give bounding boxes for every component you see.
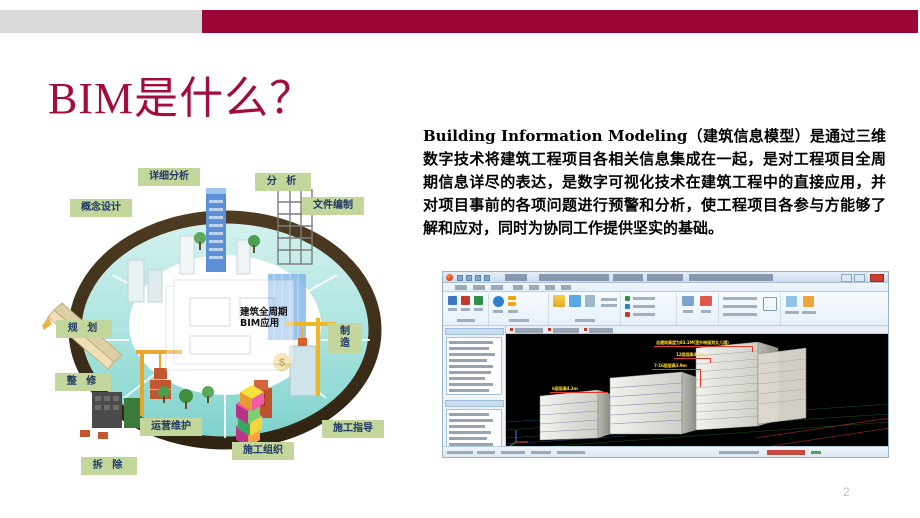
properties-panel-header[interactable]: [445, 400, 504, 407]
ribbon-label-16: [785, 311, 799, 314]
app-menu-bar: [443, 283, 888, 292]
menu-item-3[interactable]: [491, 285, 503, 290]
status-alert: [767, 450, 805, 455]
menu-item-6[interactable]: [545, 285, 555, 290]
menu-item-4[interactable]: [513, 285, 523, 290]
quick-save-icon[interactable]: [457, 275, 463, 281]
ribbon-label-12: [701, 310, 711, 313]
status-text-3: [501, 451, 525, 454]
ribbon-icon-layer[interactable]: [585, 295, 595, 307]
label-renovation[interactable]: 整 修: [55, 373, 111, 391]
ribbon-group-1: [443, 293, 489, 325]
label-construction-organize[interactable]: 施工组织: [232, 442, 294, 460]
quick-print-icon[interactable]: [484, 275, 490, 281]
ribbon-label-11: [683, 310, 693, 313]
label-concept-design[interactable]: 概念设计: [70, 199, 132, 217]
ribbon-label-15: [723, 313, 757, 316]
ribbon-icon-export[interactable]: [786, 296, 797, 307]
colored-cube-stack-icon: [236, 385, 264, 447]
ribbon-label-13: [723, 297, 757, 300]
ribbon-group-title-2: [509, 319, 529, 322]
status-text-6: [719, 451, 759, 454]
menu-item-1[interactable]: [455, 285, 467, 290]
app-document-name: [539, 274, 609, 281]
ribbon-label-4: [493, 310, 503, 313]
ribbon-label-9: [633, 305, 655, 308]
bim-lifecycle-diagram: $: [40, 140, 430, 490]
top-banner: [0, 10, 920, 33]
ribbon-icon-orbit[interactable]: [493, 296, 504, 307]
ribbon-group-title-1: [457, 319, 475, 322]
close-button[interactable]: [870, 274, 884, 282]
center-title: 建筑全周期: [240, 307, 288, 318]
bim-software-screenshot: 总建筑高度为83.1M(室外映面到女儿墙) 12层层高4.4m 7-16层层高3…: [442, 271, 889, 458]
scenery-blue-tower: [206, 188, 226, 272]
app-status-bar: [443, 446, 888, 457]
banner-gray-segment: [0, 10, 202, 33]
tab-indicator-2: [548, 328, 551, 331]
project-browser-header[interactable]: [445, 328, 504, 335]
maximize-button[interactable]: [854, 274, 865, 282]
app-logo-icon: [446, 274, 453, 281]
ribbon-group-4: [621, 293, 677, 325]
ribbon-label-14: [723, 305, 757, 308]
ribbon-label-8: [633, 297, 655, 300]
ribbon-icon-select[interactable]: [448, 296, 457, 305]
label-construction-guide[interactable]: 施工指导: [322, 420, 384, 438]
ribbon-group-2: [489, 293, 549, 325]
app-view-tabs: [506, 326, 888, 334]
minimize-button[interactable]: [841, 274, 852, 282]
app-title-bar: [443, 272, 888, 283]
menu-item-7[interactable]: [561, 285, 571, 290]
view-tab-2[interactable]: [553, 328, 579, 333]
app-title-text: [505, 274, 527, 281]
app-title-extra-2: [647, 274, 683, 281]
ribbon-icon-status-warn[interactable]: [625, 312, 630, 317]
banner-accent-segment: [202, 10, 918, 33]
app-title-extra-1: [613, 274, 643, 281]
label-fabrication[interactable]: 制造: [328, 323, 362, 353]
ribbon-icon-status-ok[interactable]: [625, 296, 630, 301]
ribbon-icon-measure[interactable]: [474, 296, 483, 305]
tab-indicator-1: [510, 328, 513, 331]
status-text-5: [557, 451, 585, 454]
app-ribbon-toolbar: [443, 292, 888, 326]
scenery-demolition: [80, 392, 142, 439]
view-tab-3[interactable]: [589, 328, 613, 333]
ribbon-label-1: [448, 308, 457, 311]
ribbon-label-6: [601, 298, 617, 301]
ribbon-icon-settings[interactable]: [803, 296, 814, 307]
label-detailed-analysis[interactable]: 详细分析: [138, 168, 200, 186]
ribbon-icon-view[interactable]: [682, 296, 694, 306]
ribbon-label-5: [508, 310, 518, 313]
ribbon-icon-pan[interactable]: [508, 296, 516, 300]
ribbon-icon-zoom[interactable]: [508, 302, 516, 306]
ribbon-label-7: [601, 304, 617, 307]
label-planning[interactable]: 规 划: [56, 320, 112, 338]
ribbon-icon-modify[interactable]: [461, 296, 470, 305]
axis-gizmo: [510, 430, 528, 446]
status-text-4: [531, 451, 551, 454]
ribbon-group-7: [781, 293, 827, 325]
label-demolition[interactable]: 拆 除: [81, 457, 137, 475]
quick-undo-icon[interactable]: [466, 275, 472, 281]
status-indicator: [811, 451, 821, 454]
ribbon-group-title-3: [575, 319, 595, 322]
label-analysis[interactable]: 分 析: [255, 173, 311, 191]
ribbon-icon-status-info[interactable]: [625, 304, 630, 309]
label-operation-maintenance[interactable]: 运营维护: [140, 418, 202, 436]
ribbon-icon-folder[interactable]: [553, 295, 565, 307]
ribbon-group-6: [719, 293, 781, 325]
menu-item-2[interactable]: [473, 285, 485, 290]
3d-model-viewport[interactable]: 总建筑高度为83.1M(室外映面到女儿墙) 12层层高4.4m 7-16层层高3…: [506, 334, 888, 446]
ribbon-label-17: [802, 311, 816, 314]
ribbon-label-3: [474, 308, 483, 311]
ribbon-group-3: [549, 293, 621, 325]
ribbon-icon-render[interactable]: [700, 296, 712, 306]
status-text-2: [477, 451, 495, 454]
page-number: 2: [843, 485, 863, 499]
ribbon-icon-search[interactable]: [763, 297, 777, 311]
menu-item-5[interactable]: [529, 285, 539, 290]
view-tab-1[interactable]: [515, 328, 543, 333]
ribbon-label-10: [633, 313, 655, 316]
ribbon-group-5: [677, 293, 719, 325]
body-paragraph: Building Information Modeling（建筑信息模型）是通过…: [423, 125, 886, 240]
status-text-1: [447, 451, 473, 454]
project-browser-tree[interactable]: [446, 337, 502, 395]
center-subtitle: BIM应用: [240, 318, 279, 329]
ribbon-label-2: [461, 308, 470, 311]
label-documentation[interactable]: 文件编制: [302, 197, 364, 215]
page-title: BIM是什么？: [48, 62, 314, 126]
tab-indicator-3: [584, 328, 587, 331]
app-title-extra-3: [689, 274, 773, 281]
quick-redo-icon[interactable]: [475, 275, 481, 281]
app-left-panel: [443, 326, 506, 446]
ribbon-icon-window[interactable]: [569, 295, 581, 307]
slide-root: BIM是什么？: [0, 0, 920, 518]
